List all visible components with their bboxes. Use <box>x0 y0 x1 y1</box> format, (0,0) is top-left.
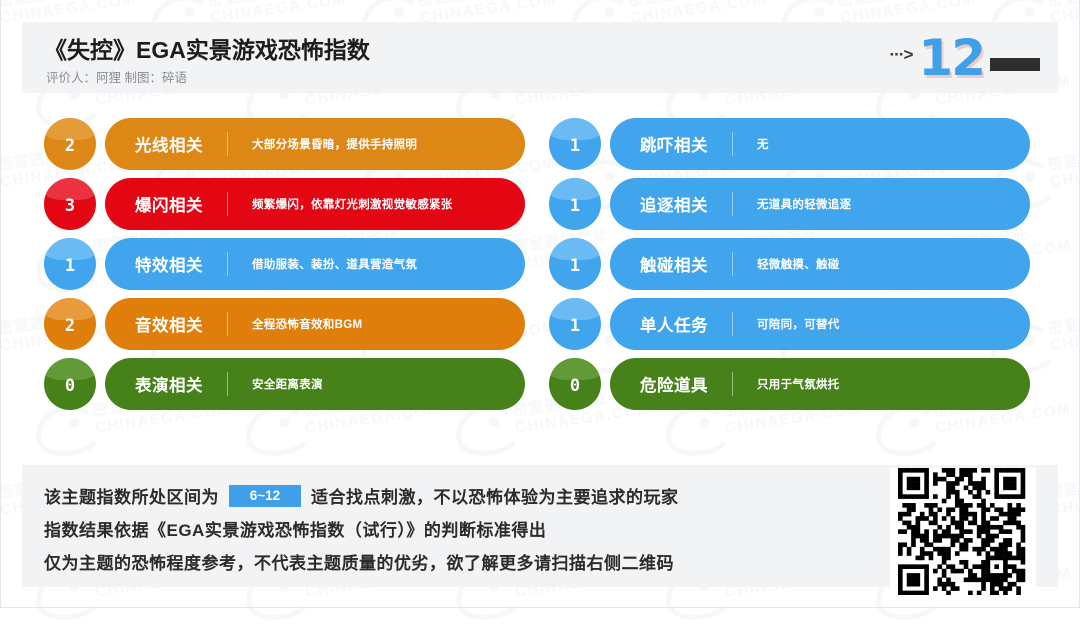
row-description: 全程恐怖音效和BGM <box>252 316 362 332</box>
row-divider <box>732 132 733 156</box>
row-bar: 爆闪相关频繁爆闪，依靠灯光刺激视觉敏感紧张 <box>105 178 525 230</box>
row-category-label: 触碰相关 <box>640 252 708 276</box>
row-bar: 跳吓相关无 <box>610 118 1030 170</box>
index-row: 1特效相关借助服装、装扮、道具营造气氛 <box>44 238 526 290</box>
index-row: 3爆闪相关频繁爆闪，依靠灯光刺激视觉敏感紧张 <box>44 178 526 230</box>
badge-score-number: 1 <box>549 238 601 290</box>
index-row: 0危险道具只用于气氛烘托 <box>549 358 1031 410</box>
badge-score-number: 1 <box>549 298 601 350</box>
score-value: 12 <box>918 33 984 83</box>
row-category-label: 音效相关 <box>135 312 203 336</box>
score-bar-mark <box>990 58 1040 71</box>
row-bar: 特效相关借助服装、装扮、道具营造气氛 <box>105 238 525 290</box>
score-badge: 2 <box>44 298 96 350</box>
row-divider <box>227 372 228 396</box>
badge-score-number: 0 <box>44 358 96 410</box>
badge-score-number: 0 <box>549 358 601 410</box>
row-divider <box>227 192 228 216</box>
footer-line1-after: 适合找点刺激，不以恐怖体验为主要追求的玩家 <box>311 483 679 508</box>
score-badge: 3 <box>44 178 96 230</box>
row-category-label: 跳吓相关 <box>640 132 708 156</box>
badge-score-number: 1 <box>549 118 601 170</box>
footer-text-block: 该主题指数所处区间为 6~12 适合找点刺激，不以恐怖体验为主要追求的玩家 指数… <box>44 479 864 578</box>
row-category-label: 危险道具 <box>640 372 708 396</box>
badge-score-number: 2 <box>44 118 96 170</box>
footer-line-1: 该主题指数所处区间为 6~12 适合找点刺激，不以恐怖体验为主要追求的玩家 <box>44 479 864 512</box>
footer-line-2: 指数结果依据《EGA实景游戏恐怖指数（试行）》的判断标准得出 <box>44 512 864 545</box>
row-divider <box>732 192 733 216</box>
index-row: 1触碰相关轻微触摸、触碰 <box>549 238 1031 290</box>
watermark-text-top: 密室逃脱产业 <box>0 0 94 11</box>
index-row: 2光线相关大部分场景昏暗，提供手持照明 <box>44 118 526 170</box>
watermark-text-top: 密室逃脱产业 <box>626 0 724 11</box>
row-category-label: 爆闪相关 <box>135 192 203 216</box>
score-badge: 0 <box>549 358 601 410</box>
row-divider <box>227 132 228 156</box>
watermark-logo-icon <box>0 483 10 542</box>
row-bar: 音效相关全程恐怖音效和BGM <box>105 298 525 350</box>
row-bar: 表演相关安全距离表演 <box>105 358 525 410</box>
footer-line-3: 仅为主题的恐怖程度参考，不代表主题质量的优劣，欲了解更多请扫描右侧二维码 <box>44 545 864 578</box>
row-description: 无道具的轻微追逐 <box>757 196 851 212</box>
row-description: 频繁爆闪，依靠灯光刺激视觉敏感紧张 <box>252 196 453 212</box>
page-title: 《失控》EGA实景游戏恐怖指数 <box>44 31 370 65</box>
row-divider <box>732 372 733 396</box>
row-bar: 光线相关大部分场景昏暗，提供手持照明 <box>105 118 525 170</box>
row-category-label: 光线相关 <box>135 132 203 156</box>
badge-score-number: 1 <box>44 238 96 290</box>
row-divider <box>732 252 733 276</box>
row-bar: 触碰相关轻微触摸、触碰 <box>610 238 1030 290</box>
row-bar: 危险道具只用于气氛烘托 <box>610 358 1030 410</box>
watermark-text-top: 密室逃脱产业 <box>206 0 304 11</box>
qr-code-image[interactable] <box>890 468 1036 595</box>
watermark-text-top: 密室逃脱产业 <box>836 0 934 11</box>
score-badge: 1 <box>549 298 601 350</box>
row-category-label: 追逐相关 <box>640 192 708 216</box>
score-badge: 1 <box>44 238 96 290</box>
score-badge: 1 <box>549 178 601 230</box>
row-category-label: 特效相关 <box>135 252 203 276</box>
row-divider <box>732 312 733 336</box>
index-row: 1跳吓相关无 <box>549 118 1031 170</box>
arrow-icon: ···> <box>889 45 912 65</box>
row-description: 大部分场景昏暗，提供手持照明 <box>252 136 417 152</box>
score-badge: 1 <box>549 238 601 290</box>
row-description: 无 <box>757 136 769 152</box>
footer-line1-before: 该主题指数所处区间为 <box>44 483 219 508</box>
badge-score-number: 3 <box>44 178 96 230</box>
watermark-text-top: 密室逃脱产业 <box>1046 0 1080 11</box>
score-badge: 1 <box>549 118 601 170</box>
row-bar: 单人任务可陪同，可替代 <box>610 298 1030 350</box>
watermark-text-top: 密室逃脱产业 <box>416 0 514 11</box>
score-badge: 0 <box>44 358 96 410</box>
row-divider <box>227 252 228 276</box>
score-badge: 2 <box>44 118 96 170</box>
index-row: 1单人任务可陪同，可替代 <box>549 298 1031 350</box>
index-row: 1追逐相关无道具的轻微追逐 <box>549 178 1031 230</box>
header-panel: 《失控》EGA实景游戏恐怖指数 评价人：阿狸 制图：碎语 ···> 12 <box>22 22 1058 93</box>
row-divider <box>227 312 228 336</box>
total-score: ···> 12 <box>889 26 1040 90</box>
row-description: 安全距离表演 <box>252 376 323 392</box>
credits-line: 评价人：阿狸 制图：碎语 <box>46 67 187 86</box>
watermark-logo-icon <box>0 0 10 50</box>
index-row: 0表演相关安全距离表演 <box>44 358 526 410</box>
index-row: 2音效相关全程恐怖音效和BGM <box>44 298 526 350</box>
row-category-label: 表演相关 <box>135 372 203 396</box>
row-description: 可陪同，可替代 <box>757 316 840 332</box>
badge-score-number: 2 <box>44 298 96 350</box>
qr-code-svg <box>890 468 1036 595</box>
row-description: 轻微触摸、触碰 <box>757 256 840 272</box>
row-description: 借助服装、装扮、道具营造气氛 <box>252 256 417 272</box>
row-category-label: 单人任务 <box>640 312 708 336</box>
range-badge: 6~12 <box>229 485 301 507</box>
row-bar: 追逐相关无道具的轻微追逐 <box>610 178 1030 230</box>
index-rows: 2光线相关大部分场景昏暗，提供手持照明3爆闪相关频繁爆闪，依靠灯光刺激视觉敏感紧… <box>0 118 1080 423</box>
row-description: 只用于气氛烘托 <box>757 376 840 392</box>
badge-score-number: 1 <box>549 178 601 230</box>
